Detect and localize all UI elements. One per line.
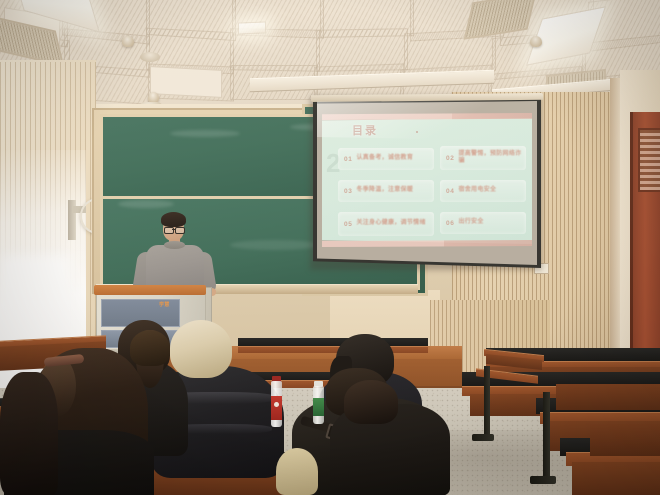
ceiling-light-small	[238, 22, 266, 35]
toc-number: 02	[446, 155, 454, 162]
toc-number: 03	[344, 188, 352, 195]
desk-foot	[530, 476, 556, 484]
toc-number: 04	[446, 188, 454, 195]
toc-number: 06	[446, 220, 454, 227]
desk-front	[572, 462, 660, 495]
toc-number: 01	[344, 156, 352, 163]
toc-item-02: 02 提高警惕，预防网络诈骗	[440, 146, 526, 170]
bottle-logo	[274, 402, 279, 407]
student-hair	[130, 330, 170, 366]
glasses-icon	[175, 227, 185, 234]
toc-item-03: 03 冬季降温，注意保暖	[338, 180, 434, 202]
toc-text: 冬季降温，注意保暖	[356, 187, 413, 195]
student-hair	[344, 380, 398, 424]
chalk-smudge	[170, 130, 240, 137]
chalk-smudge	[118, 200, 174, 208]
teacher-collar	[164, 241, 185, 249]
door-window	[638, 128, 660, 192]
toc-item-06: 06 出行安全	[440, 212, 526, 234]
student-hood-beige	[276, 448, 318, 495]
classroom-photo: 2 01 认真备考，诚信教育 03 冬季降温，注意保暖 05 关注身心健康，调节…	[0, 0, 660, 495]
ceiling-tile-plain	[150, 66, 222, 98]
toc-text: 宿舍用电安全	[458, 187, 496, 195]
desk-foot	[472, 434, 494, 441]
glasses-bridge	[172, 229, 175, 230]
bottle-label-red	[271, 396, 282, 420]
toc-text: 关注身心健康，调节情绪	[356, 220, 425, 228]
desk-surface	[238, 346, 428, 353]
student-hair	[0, 372, 58, 495]
teacher-hair	[161, 212, 186, 227]
desk-leg	[543, 392, 550, 482]
toc-text: 出行安全	[458, 219, 483, 227]
seat-pan[interactable]	[590, 424, 660, 456]
desk-leg	[484, 366, 490, 438]
podium-desktop	[94, 285, 206, 295]
seat-pan[interactable]	[556, 384, 660, 410]
slide-bottom-accent-bar	[322, 240, 532, 247]
toc-item-01: 01 认真备考，诚信教育	[338, 148, 434, 170]
student-hair-blonde	[170, 320, 232, 378]
toc-text: 提高警惕，预防网络诈骗	[458, 151, 526, 166]
ceiling-speaker-icon	[122, 36, 134, 47]
toc-item-04: 04 宿舍用电安全	[440, 180, 526, 202]
screen-glare	[317, 101, 537, 141]
podium-brand-mark: 学慧	[159, 301, 170, 308]
toc-item-05: 05 关注身心健康，调节情绪	[338, 212, 434, 236]
bottle-label-green	[313, 398, 324, 416]
toc-number: 05	[344, 221, 352, 228]
toc-text: 认真备考，诚信教育	[356, 155, 413, 163]
ceiling-speaker-icon	[530, 36, 542, 47]
chalk-smudge	[230, 240, 320, 250]
